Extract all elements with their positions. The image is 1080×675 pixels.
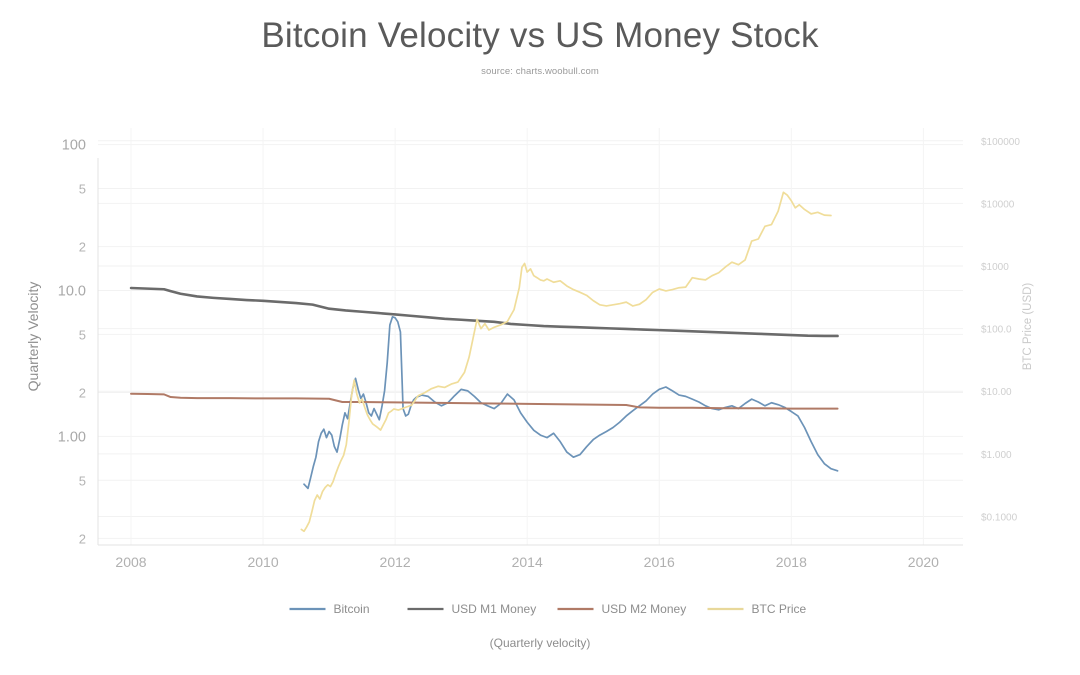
legend-label: BTC Price bbox=[752, 602, 807, 616]
x-tick-label: 2010 bbox=[247, 554, 278, 570]
legend-label: USD M1 Money bbox=[452, 602, 537, 616]
y-tick-label: 2 bbox=[79, 531, 86, 546]
x-tick-label: 2018 bbox=[776, 554, 807, 570]
axis-spines bbox=[98, 158, 963, 545]
y-tick-label: 10.0 bbox=[58, 283, 86, 299]
legend-item-bitcoin[interactable]: Bitcoin bbox=[290, 602, 370, 616]
chart-caption: (Quarterly velocity) bbox=[0, 636, 1080, 650]
x-tick-label: 2008 bbox=[115, 554, 146, 570]
legend-label: USD M2 Money bbox=[602, 602, 687, 616]
horizontal-gridlines bbox=[98, 141, 963, 539]
legend-item-btc-price[interactable]: BTC Price bbox=[708, 602, 807, 616]
x-tick-label: 2014 bbox=[512, 554, 543, 570]
legend-label: Bitcoin bbox=[334, 602, 370, 616]
x-tick-label: 2012 bbox=[380, 554, 411, 570]
y-tick-label: 5 bbox=[79, 182, 86, 197]
y-tick-label: 1.00 bbox=[58, 429, 86, 445]
chart-plot-svg: 1005210.0521.0052 $100000$10000$1000$100… bbox=[0, 0, 1080, 675]
y-tick-label: 5 bbox=[79, 327, 86, 342]
y-tick-label: 2 bbox=[79, 385, 86, 400]
y2-axis-tick-labels: $100000$10000$1000$100.0$10.00$1.000$0.1… bbox=[981, 137, 1020, 524]
y2-tick-label: $10000 bbox=[981, 199, 1015, 210]
x-tick-label: 2016 bbox=[644, 554, 675, 570]
y2-tick-label: $1.000 bbox=[981, 450, 1012, 461]
y2-axis-title: BTC Price (USD) bbox=[1022, 283, 1034, 371]
chart-container: Bitcoin Velocity vs US Money Stock sourc… bbox=[0, 0, 1080, 675]
y-axis-title: Quarterly Velocity bbox=[25, 282, 41, 392]
y2-tick-label: $100000 bbox=[981, 137, 1020, 148]
y2-tick-label: $0.1000 bbox=[981, 512, 1018, 523]
legend-item-usd-m2-money[interactable]: USD M2 Money bbox=[558, 602, 687, 616]
chart-legend: BitcoinUSD M1 MoneyUSD M2 MoneyBTC Price bbox=[290, 602, 807, 616]
y2-tick-label: $100.0 bbox=[981, 325, 1012, 336]
x-axis-tick-labels: 2008201020122014201620182020 bbox=[115, 554, 939, 570]
y-tick-label: 2 bbox=[79, 240, 86, 255]
y2-tick-label: $1000 bbox=[981, 262, 1009, 273]
x-tick-label: 2020 bbox=[908, 554, 939, 570]
y2-tick-label: $10.00 bbox=[981, 387, 1012, 398]
axis-titles: Quarterly VelocityBTC Price (USD) bbox=[25, 282, 1034, 392]
y-tick-label: 100 bbox=[62, 138, 86, 154]
y-axis-tick-labels: 1005210.0521.0052 bbox=[58, 138, 86, 547]
legend-item-usd-m1-money[interactable]: USD M1 Money bbox=[408, 602, 537, 616]
y-tick-label: 5 bbox=[79, 473, 86, 488]
